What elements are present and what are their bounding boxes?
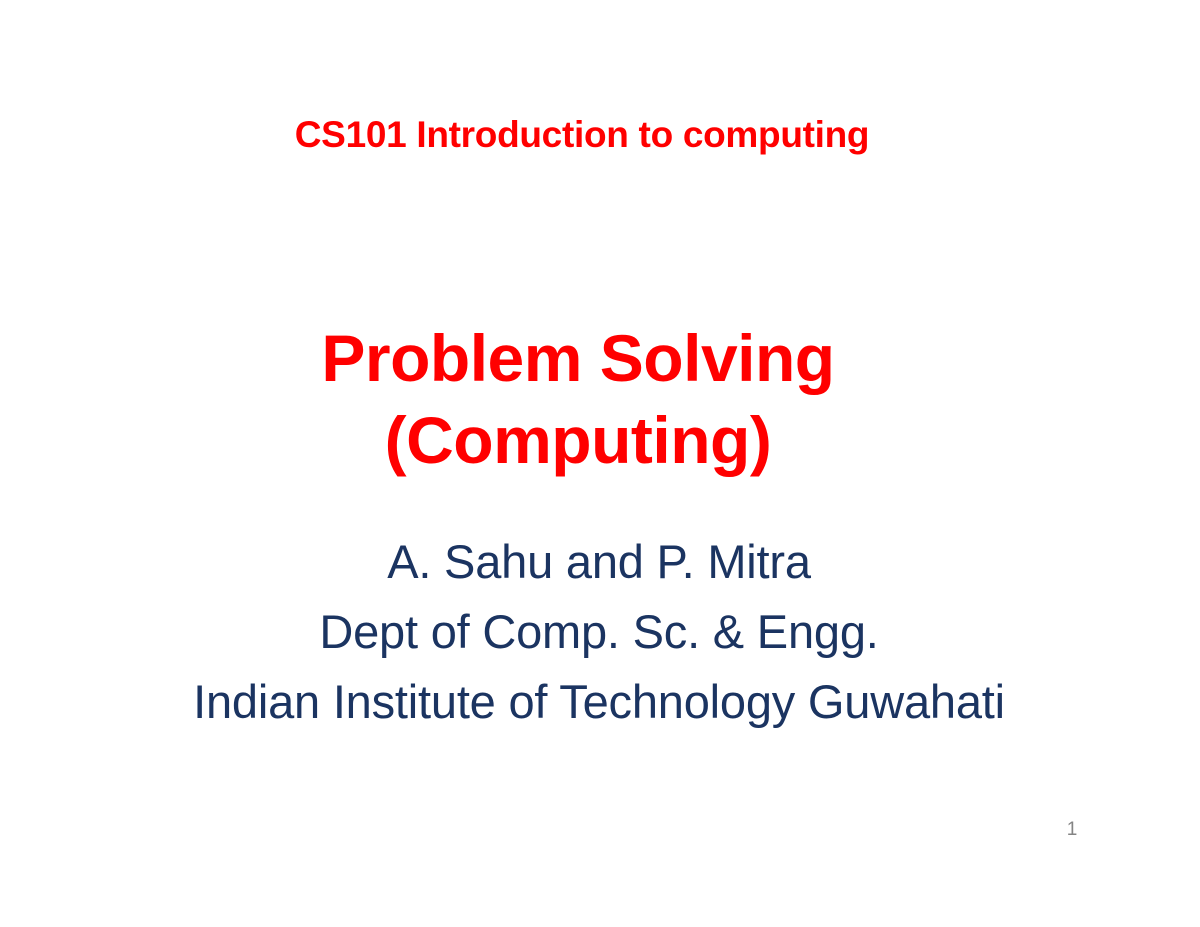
title-slide: CS101 Introduction to computing Problem … xyxy=(0,0,1200,927)
course-title: CS101 Introduction to computing xyxy=(295,112,869,157)
slide-title-block: Problem Solving (Computing) xyxy=(0,318,1200,482)
author-names: A. Sahu and P. Mitra xyxy=(0,527,1198,597)
slide-title-line-2: (Computing) xyxy=(0,400,1156,482)
slide-number: 1 xyxy=(1060,820,1084,839)
slide-title-line-1: Problem Solving xyxy=(0,318,1156,400)
author-department: Dept of Comp. Sc. & Engg. xyxy=(0,597,1198,667)
slide-header: CS101 Introduction to computing xyxy=(0,112,1200,157)
author-institute: Indian Institute of Technology Guwahati xyxy=(0,667,1198,737)
author-block: A. Sahu and P. Mitra Dept of Comp. Sc. &… xyxy=(0,527,1200,737)
